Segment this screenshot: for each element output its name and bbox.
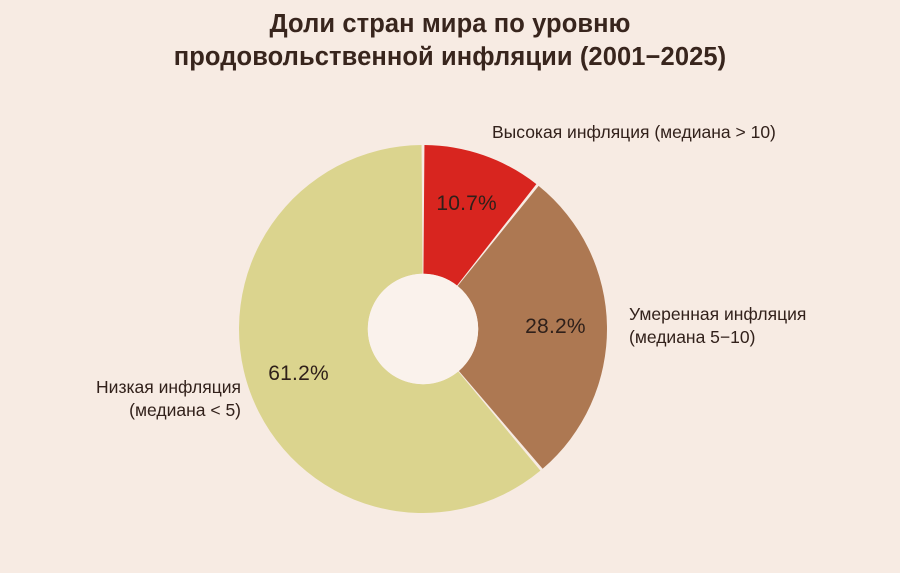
slice-label-low: Низкая инфляция (медиана < 5) <box>26 376 241 422</box>
chart-container: Доли стран мира по уровню продовольствен… <box>0 0 900 573</box>
donut-chart <box>0 0 900 573</box>
slice-value-high: 10.7% <box>436 192 497 216</box>
slice-value-moderate: 28.2% <box>525 315 586 339</box>
slice-label-high: Высокая инфляция (медиана > 10) <box>492 121 776 144</box>
slice-value-low: 61.2% <box>268 362 329 386</box>
donut-hole <box>368 274 478 384</box>
slice-label-moderate: Умеренная инфляция (медиана 5−10) <box>629 303 806 349</box>
donut-chart-svg <box>0 0 900 573</box>
